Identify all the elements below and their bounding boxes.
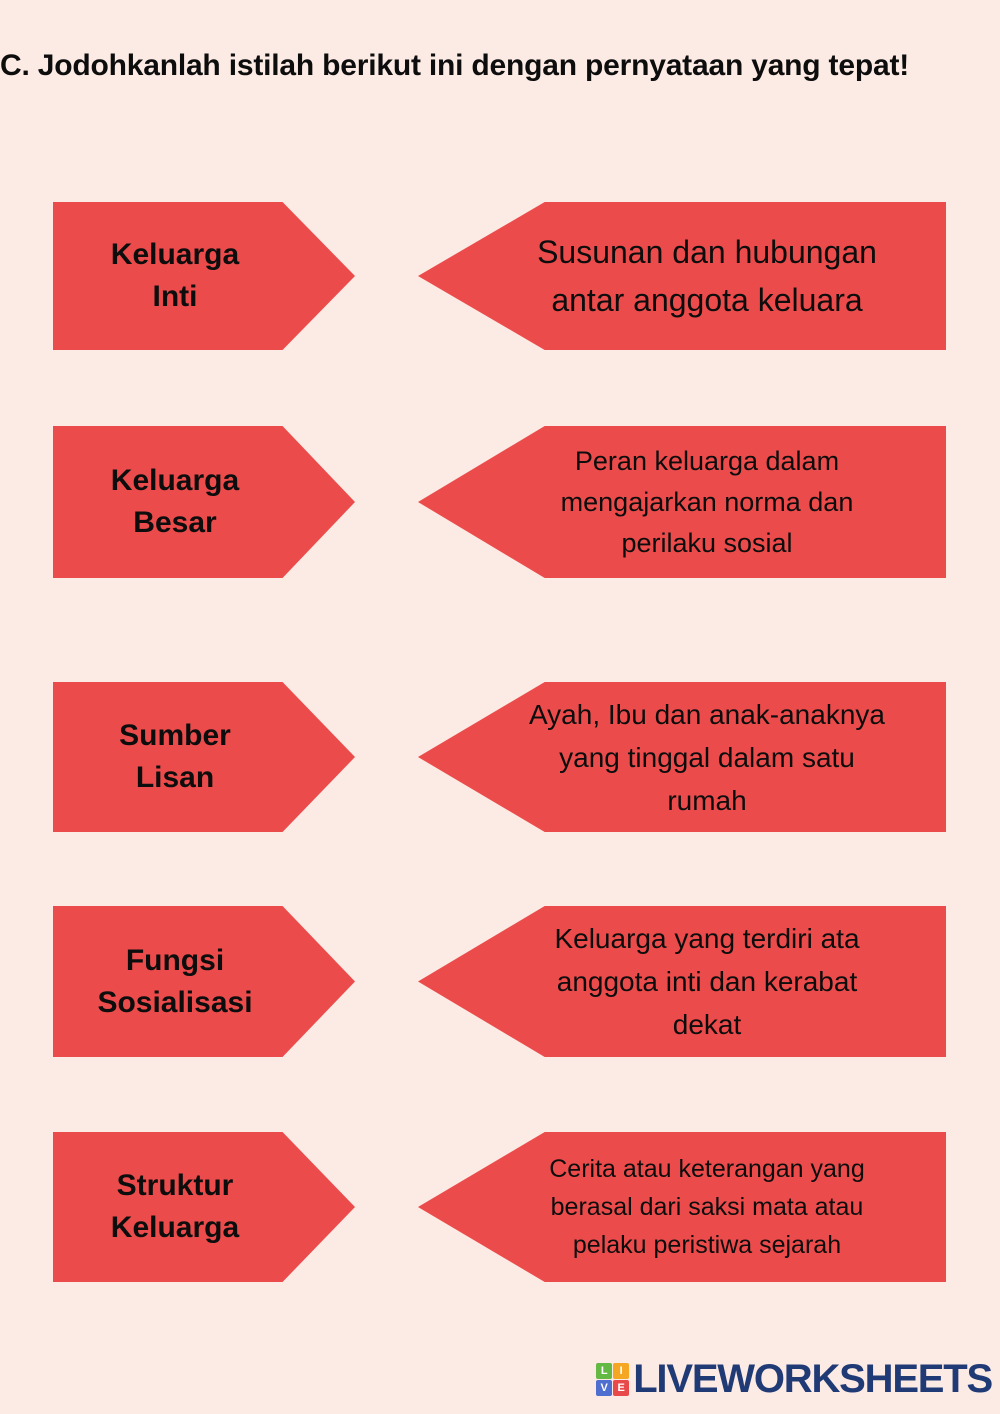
- definition-arrow-5[interactable]: Cerita atau keterangan yang berasal dari…: [418, 1132, 946, 1282]
- definition-arrow-1[interactable]: Susunan dan hubungan antar anggota kelua…: [418, 202, 946, 350]
- match-row: Fungsi Sosialisasi Keluarga yang terdiri…: [0, 906, 1000, 1057]
- liveworksheets-logo: L I V E LIVEWORKSHEETS: [596, 1357, 992, 1402]
- logo-tiles-icon: L I V E: [596, 1363, 629, 1396]
- match-row: Keluarga Inti Susunan dan hubungan antar…: [0, 202, 1000, 350]
- term-label-5: Struktur Keluarga: [53, 1165, 297, 1249]
- match-row: Sumber Lisan Ayah, Ibu dan anak-anaknya …: [0, 682, 1000, 832]
- term-label-4: Fungsi Sosialisasi: [53, 940, 297, 1024]
- logo-tile-e: E: [613, 1380, 629, 1396]
- page-title: C. Jodohkanlah istilah berikut ini denga…: [0, 44, 960, 88]
- term-label-2: Keluarga Besar: [53, 460, 297, 544]
- term-label-1: Keluarga Inti: [53, 234, 297, 318]
- term-arrow-1[interactable]: Keluarga Inti: [53, 202, 355, 350]
- term-label-3: Sumber Lisan: [53, 715, 297, 799]
- definition-label-1: Susunan dan hubungan antar anggota kelua…: [480, 228, 934, 324]
- logo-tile-i: I: [613, 1363, 629, 1379]
- definition-arrow-2[interactable]: Peran keluarga dalam mengajarkan norma d…: [418, 426, 946, 578]
- definition-label-5: Cerita atau keterangan yang berasal dari…: [480, 1150, 934, 1264]
- term-arrow-4[interactable]: Fungsi Sosialisasi: [53, 906, 355, 1057]
- match-row: Keluarga Besar Peran keluarga dalam meng…: [0, 426, 1000, 578]
- term-arrow-2[interactable]: Keluarga Besar: [53, 426, 355, 578]
- logo-wordmark: LIVEWORKSHEETS: [633, 1357, 992, 1402]
- definition-label-4: Keluarga yang terdiri ata anggota inti d…: [480, 917, 934, 1046]
- term-arrow-3[interactable]: Sumber Lisan: [53, 682, 355, 832]
- definition-label-2: Peran keluarga dalam mengajarkan norma d…: [480, 441, 934, 564]
- worksheet-page: C. Jodohkanlah istilah berikut ini denga…: [0, 0, 1000, 1414]
- definition-label-3: Ayah, Ibu dan anak-anaknya yang tinggal …: [480, 693, 934, 822]
- logo-tile-v: V: [596, 1380, 612, 1396]
- match-row: Struktur Keluarga Cerita atau keterangan…: [0, 1132, 1000, 1282]
- term-arrow-5[interactable]: Struktur Keluarga: [53, 1132, 355, 1282]
- definition-arrow-3[interactable]: Ayah, Ibu dan anak-anaknya yang tinggal …: [418, 682, 946, 832]
- definition-arrow-4[interactable]: Keluarga yang terdiri ata anggota inti d…: [418, 906, 946, 1057]
- logo-tile-l: L: [596, 1363, 612, 1379]
